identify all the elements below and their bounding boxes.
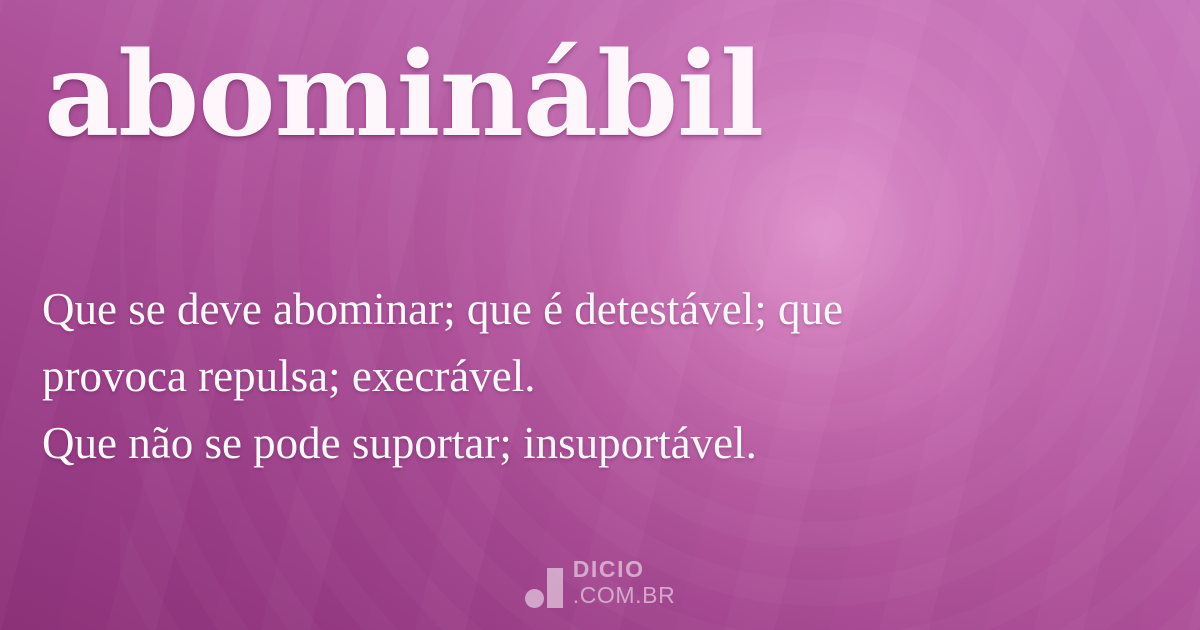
- logo-mark-icon: [525, 568, 563, 608]
- headword-title: abominábil: [44, 28, 763, 163]
- logo-bar-icon: [547, 568, 563, 608]
- logo-circle-icon: [525, 589, 544, 608]
- definition-line-3: Que não se pode suportar; insuportável.: [42, 410, 1102, 477]
- definition-line-1: Que se deve abominar; que é detestável; …: [42, 276, 1102, 343]
- definition-line-2: provoca repulsa; execrável.: [42, 343, 1102, 410]
- logo-inner: DICIO .COM.BR: [525, 558, 676, 608]
- dicio-logo: DICIO .COM.BR: [0, 558, 1200, 608]
- definition-list: Que se deve abominar; que é detestável; …: [42, 276, 1102, 477]
- logo-brand-name: DICIO: [573, 558, 676, 581]
- definition-card: abominábil Que se deve abominar; que é d…: [0, 0, 1200, 630]
- logo-wordmark: DICIO .COM.BR: [573, 558, 676, 608]
- logo-domain-suffix: .COM.BR: [573, 584, 676, 607]
- card-content: abominábil Que se deve abominar; que é d…: [0, 0, 1200, 630]
